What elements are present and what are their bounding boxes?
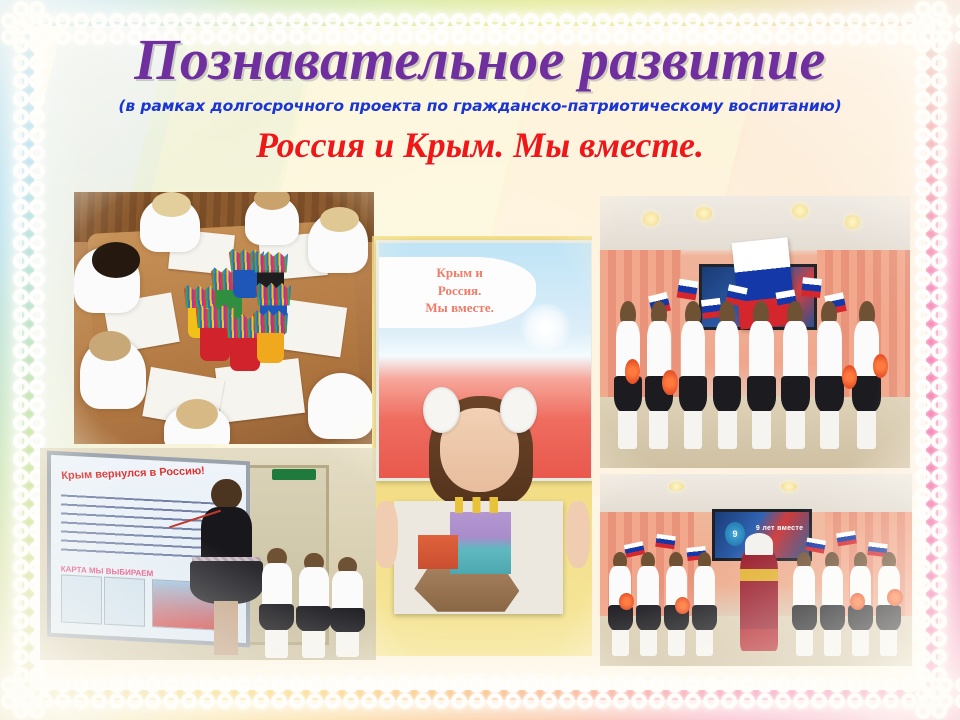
russian-flag-small [836,530,857,546]
hall-screen-text: 9 лет вместе [756,525,803,532]
pencil-cup-orange [257,331,284,364]
ceiling-lamp [845,215,861,229]
girl-hand-right [566,501,590,568]
ceiling-lamp [696,207,712,221]
child-hair [89,331,131,361]
paper-flower [625,359,641,383]
exit-sign [272,469,316,480]
page-subtitle: (в рамках долгосрочного проекта по гражд… [0,97,960,115]
pencil-cup-red-2 [230,336,260,371]
slide-heading-block: Познавательное развитие (в рамках долгос… [0,30,960,166]
hall-ceiling [600,474,912,512]
paper-flower [662,370,678,394]
ceiling-lamp [792,204,808,218]
pencil-cup-red [200,326,230,361]
photo-content [600,196,910,468]
photo-children-colouring [74,192,374,444]
girl-hand-left [374,501,398,568]
ceiling-lamp [781,482,797,492]
photo-content: 9 9 лет вместе [600,474,912,666]
child-performer [822,566,844,654]
child-performer [694,566,716,654]
page-title: Познавательное развитие [0,30,960,89]
child-performer [783,321,808,446]
child-listener [332,571,362,656]
child-performer [793,566,815,654]
slide-canvas: Крым иРоссия.Мы вместе. [0,0,960,720]
photo-girl-with-drawing: Крым иРоссия.Мы вместе. [372,236,592,656]
child-performer [715,321,740,446]
hair-bow-left [423,387,460,433]
child-performer [616,321,641,446]
photo-content: Крым иРоссия.Мы вместе. [372,236,592,656]
child-performer [609,566,631,654]
hair-bow-right [500,387,537,433]
russian-flag-small [801,277,821,298]
photo-hall-flags [600,196,910,468]
child-performer [817,321,842,446]
child-listener [262,563,292,656]
child-performer [850,566,872,654]
photo-hall-folk-dress: 9 9 лет вместе [600,474,912,666]
photo-teacher-whiteboard: Крым вернулся в Россию! КАРТА МЫ ВЫБИРАЕ… [40,448,376,660]
paper-flower [887,589,903,606]
child-performer [637,566,659,654]
whiteboard-headline: Крым вернулся в Россию! [60,465,236,483]
girl-in-folk-costume [740,551,777,651]
anniversary-badge: 9 [725,522,746,546]
page-tagline: Россия и Крым. Мы вместе. [0,124,960,166]
child-performer [854,321,879,446]
child-listener [299,567,329,656]
teacher-figure [201,495,251,652]
child-hair [152,192,191,217]
photo-content: Крым вернулся в Россию! КАРТА МЫ ВЫБИРАЕ… [40,448,376,660]
child-hair [176,399,218,429]
sun-glow [517,304,574,351]
child-hair [92,242,140,277]
projection-screen-text: Крым иРоссия.Мы вместе. [394,264,525,317]
russian-flag-small [676,279,697,301]
whiteboard-map-2 [103,577,144,627]
ceiling-lamp [643,212,659,226]
child-figure [308,373,374,439]
child-performer [681,321,706,446]
whiteboard-map-1 [60,575,101,625]
drawing-castle-tower [450,512,511,574]
child-performer [878,566,900,654]
photo-content [74,192,374,444]
colouring-sheet [215,358,305,423]
child-performer [749,321,774,446]
drawing-castle-wing [418,535,459,569]
child-drawing-swallows-nest [394,501,563,614]
